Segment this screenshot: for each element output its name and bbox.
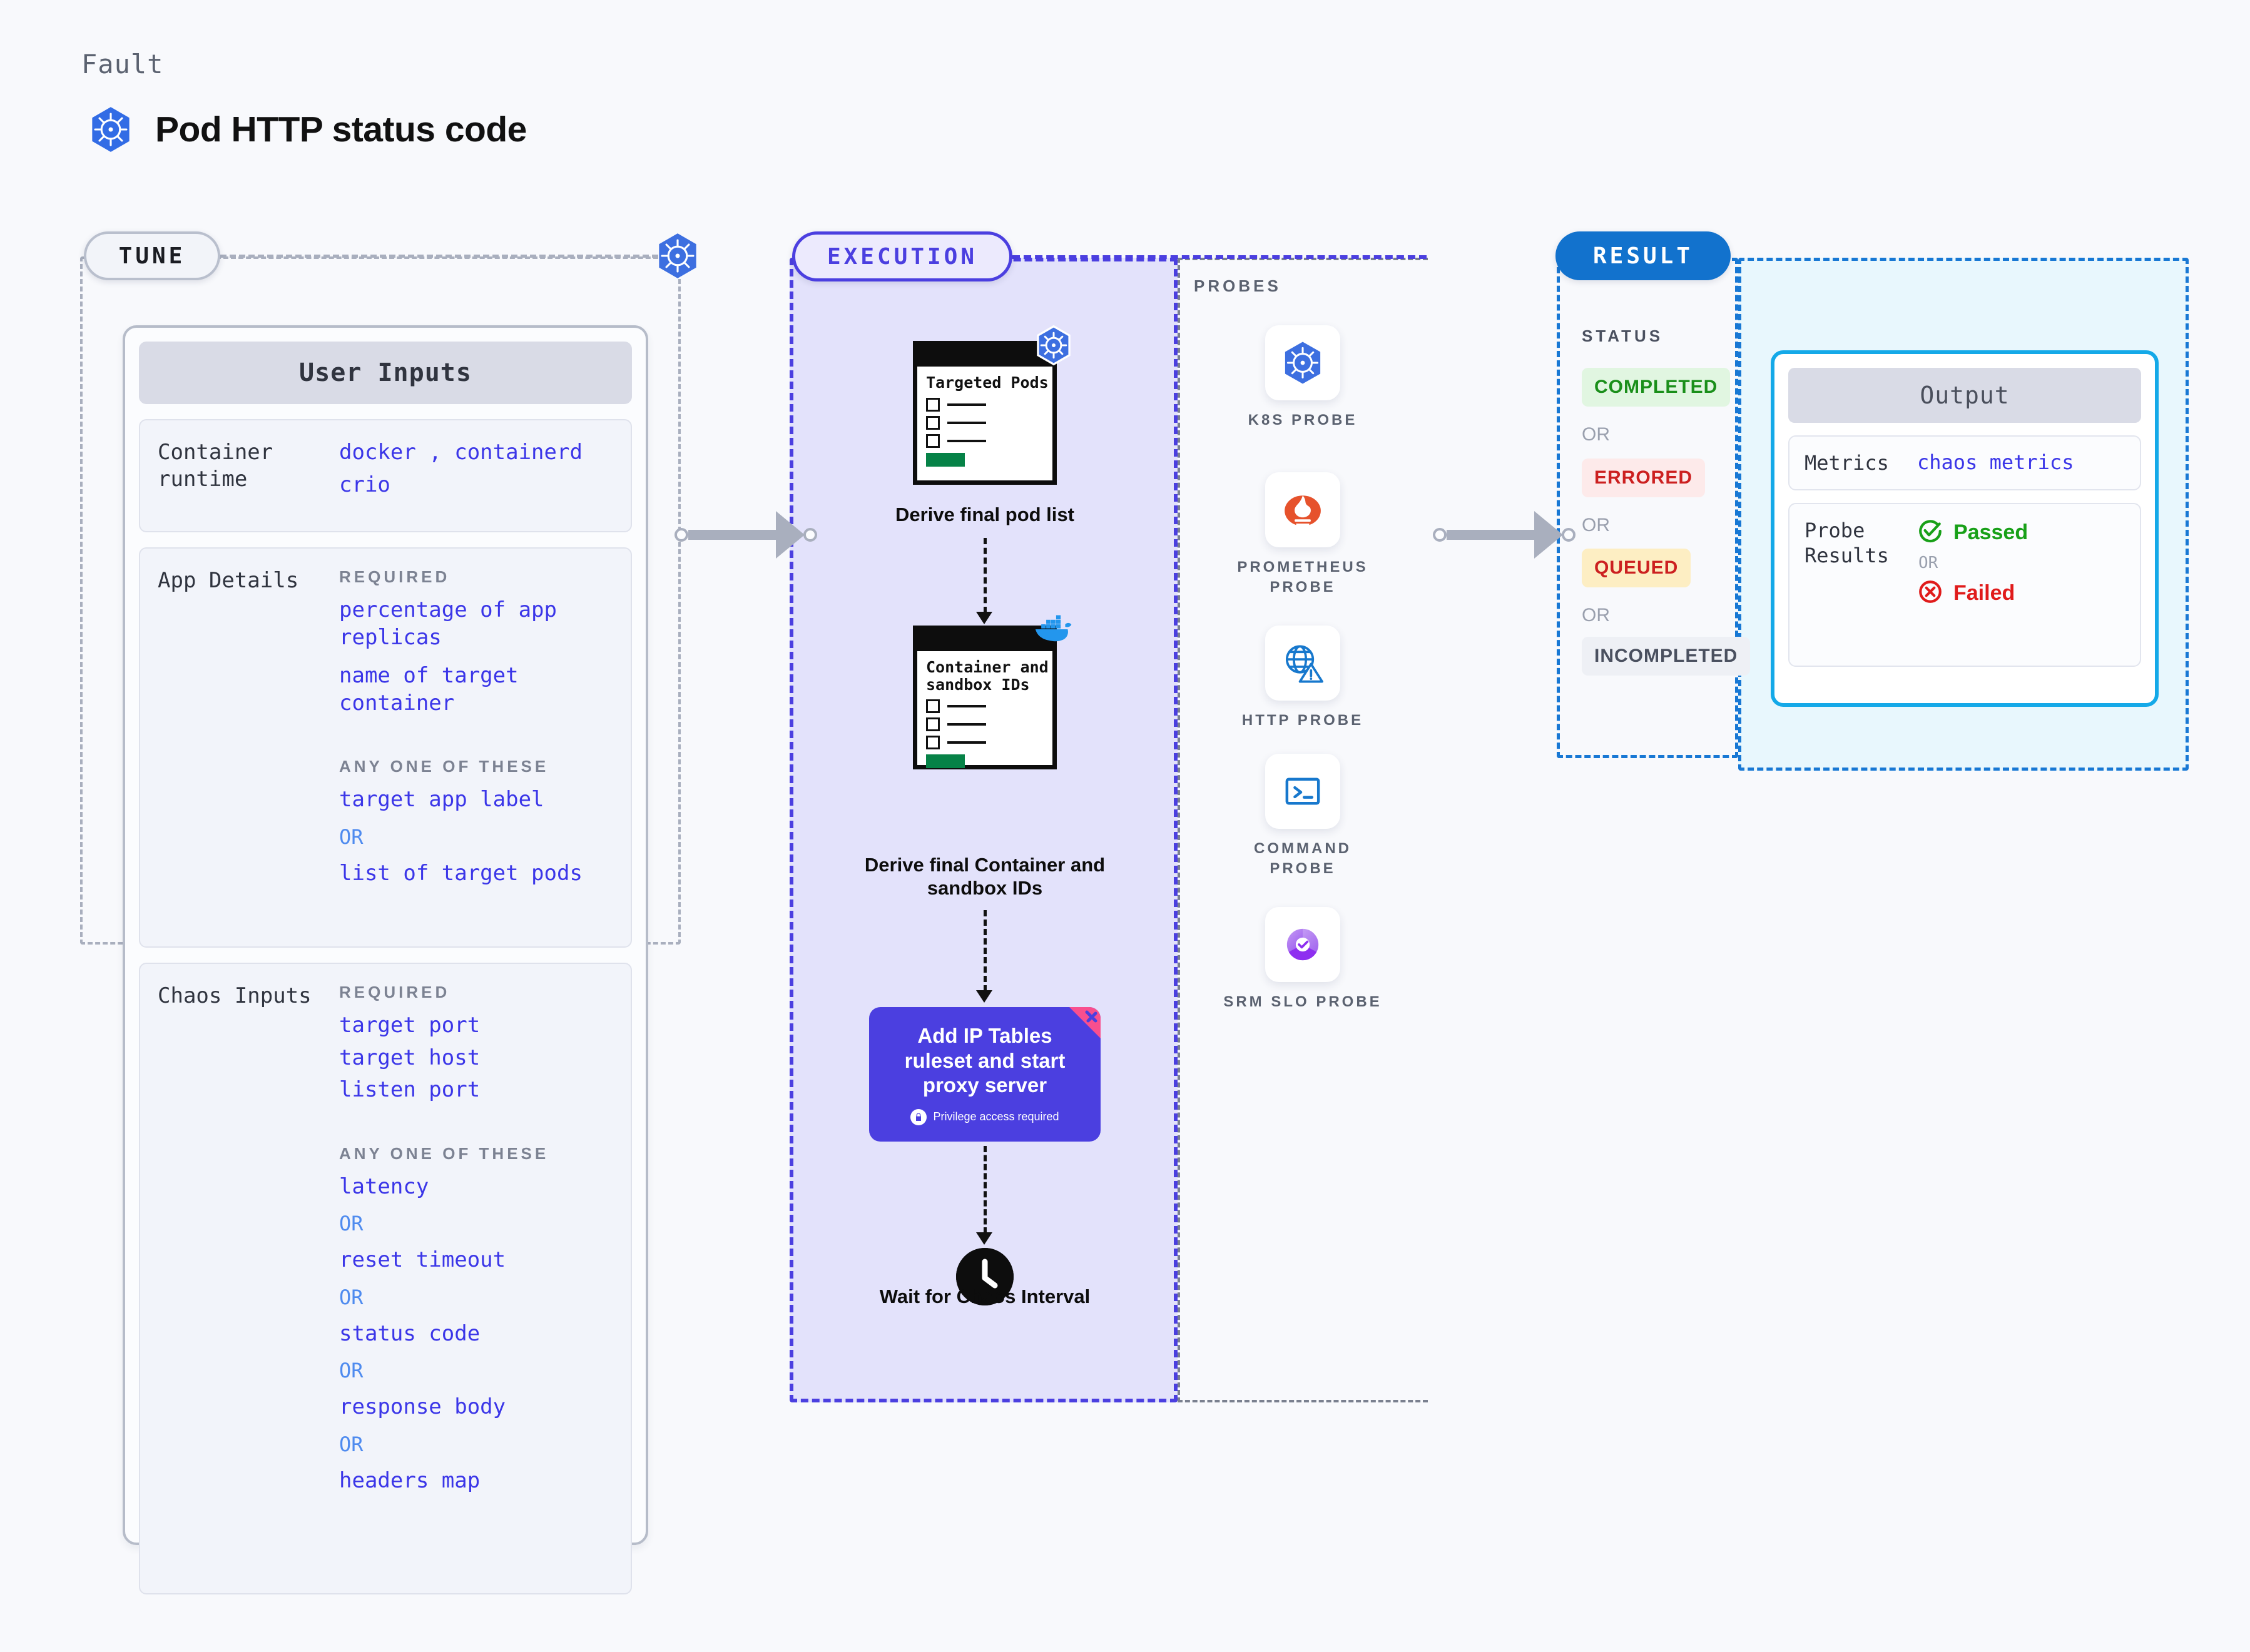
status-badge-queued: QUEUED [1582, 549, 1691, 587]
privilege-text: Privilege access required [933, 1110, 1059, 1123]
x-circle-icon [1917, 579, 1943, 608]
or-label: OR [339, 1432, 613, 1456]
connector-dot [1562, 528, 1576, 542]
value: target app label [339, 786, 613, 814]
checkbox-icon [926, 416, 940, 430]
result-pill[interactable]: RESULT [1555, 231, 1731, 280]
value: response body [339, 1394, 613, 1421]
tune-pill[interactable]: TUNE [84, 231, 220, 280]
group-container-runtime: Container runtime docker , containerd cr… [139, 419, 632, 532]
kubernetes-icon [86, 105, 135, 154]
document-rows [917, 697, 1052, 749]
value: listen port [339, 1077, 613, 1104]
flow-arrowhead [976, 612, 992, 624]
flow-link [984, 910, 987, 991]
metrics-key: Metrics [1805, 450, 1917, 475]
document-topbar [917, 345, 1052, 367]
flow-link [984, 1146, 987, 1234]
connector-dot [674, 528, 688, 542]
privilege-note: Privilege access required [910, 1109, 1059, 1125]
probe-label: K8S PROBE [1221, 410, 1384, 430]
checkbox-icon [926, 434, 940, 448]
check-circle-icon [1917, 518, 1943, 547]
action-card-add-ip-tables[interactable]: Add IP Tables ruleset and start proxy se… [869, 1007, 1101, 1142]
or-label: OR [1582, 605, 1610, 626]
kubernetes-icon [653, 231, 702, 280]
connector-arrowhead [776, 511, 805, 559]
group-title: Container runtime [158, 439, 339, 510]
probe-label: PROMETHEUS PROBE [1221, 557, 1384, 598]
value: headers map [339, 1467, 613, 1495]
probe-k8s[interactable]: K8S PROBE [1221, 325, 1384, 430]
text-line [947, 723, 986, 726]
value: crio [339, 472, 613, 499]
probe-results-key: Probe Results [1805, 518, 1917, 652]
status-bar [926, 453, 965, 467]
probe-result-passed: Passed [1917, 518, 2028, 547]
kubernetes-icon [1033, 325, 1074, 366]
text-line [947, 403, 986, 406]
document-rows [917, 395, 1052, 448]
tune-dashed-connector [220, 255, 658, 258]
group-title: Chaos Inputs [158, 983, 339, 1572]
flow-link [984, 538, 987, 613]
checkbox-icon [926, 699, 940, 713]
globe-warning-icon [1265, 626, 1340, 701]
page-title: Pod HTTP status code [155, 109, 527, 150]
connector-dot [803, 528, 817, 542]
connector-tune-to-execution [674, 511, 817, 559]
checkbox-icon [926, 717, 940, 731]
value: latency [339, 1173, 613, 1201]
or-label: OR [339, 825, 613, 849]
docker-icon [1031, 612, 1072, 653]
connector-arrowhead [1534, 511, 1563, 559]
status-badge-completed: COMPLETED [1582, 368, 1730, 407]
value: name of target container [339, 662, 613, 717]
srm-slo-icon [1265, 907, 1340, 982]
value: reset timeout [339, 1247, 613, 1274]
connector-line [1447, 530, 1535, 540]
probe-result-failed: Failed [1917, 579, 2028, 608]
probe-prometheus[interactable]: PROMETHEUS PROBE [1221, 472, 1384, 598]
prometheus-icon [1265, 472, 1340, 547]
anyone-label: ANY ONE OF THESE [339, 757, 613, 776]
probe-http[interactable]: HTTP PROBE [1221, 626, 1384, 731]
value: target port [339, 1012, 613, 1040]
connector-dot [1433, 528, 1447, 542]
metrics-row: Metrics chaos metrics [1788, 435, 2141, 490]
probes-section-label: PROBES [1194, 276, 1281, 296]
probe-results-row: Probe Results Passed OR [1788, 503, 2141, 667]
probe-label: COMMAND PROBE [1221, 839, 1384, 879]
user-inputs-title: User Inputs [139, 342, 632, 404]
fault-label: Fault [81, 49, 163, 79]
execution-pill[interactable]: EXECUTION [792, 231, 1012, 281]
metrics-value: chaos metrics [1917, 450, 2074, 475]
output-card: Output Metrics chaos metrics Probe Resul… [1771, 350, 2159, 707]
or-label: OR [339, 1359, 613, 1382]
group-chaos-inputs: Chaos Inputs REQUIRED target port target… [139, 963, 632, 1594]
or-label: OR [1582, 515, 1610, 536]
value: percentage of app replicas [339, 597, 613, 651]
page-title-row: Pod HTTP status code [86, 105, 527, 154]
status-label: STATUS [1582, 327, 1663, 346]
connector-line [688, 530, 777, 540]
text-line [947, 440, 986, 442]
node-caption: Derive final pod list [847, 504, 1122, 527]
terminal-icon [1265, 754, 1340, 829]
anyone-label: ANY ONE OF THESE [339, 1144, 613, 1163]
document-title: Container and sandbox IDs [917, 651, 1052, 697]
probe-command[interactable]: COMMAND PROBE [1221, 754, 1384, 879]
required-label: REQUIRED [339, 567, 613, 587]
node-targeted-pods: Targeted Pods [913, 341, 1057, 485]
failed-label: Failed [1953, 581, 2015, 606]
group-app-details: App Details REQUIRED percentage of app r… [139, 547, 632, 948]
execution-dashed-connector [1012, 255, 1427, 259]
connector-execution-to-result [1433, 511, 1576, 559]
checkbox-icon [926, 736, 940, 749]
probe-srm-slo[interactable]: SRM SLO PROBE [1221, 907, 1384, 1012]
lock-icon [910, 1109, 927, 1125]
status-bar [926, 754, 965, 768]
flow-arrowhead [976, 990, 992, 1003]
node-caption: Derive final Container and sandbox IDs [847, 854, 1122, 899]
user-inputs-card: User Inputs Container runtime docker , c… [123, 325, 648, 1545]
or-label: OR [1582, 424, 1610, 445]
litmus-icon [1063, 1007, 1101, 1043]
kubernetes-icon [1265, 325, 1340, 400]
or-label: OR [339, 1212, 613, 1235]
node-container-sandbox-ids: Container and sandbox IDs [913, 626, 1057, 769]
or-label: OR [1918, 554, 2028, 572]
checkbox-icon [926, 398, 940, 412]
text-line [947, 741, 986, 744]
text-line [947, 422, 986, 424]
output-card-title: Output [1788, 368, 2141, 423]
value: status code [339, 1320, 613, 1348]
value: list of target pods [339, 860, 613, 888]
group-title: App Details [158, 567, 339, 925]
or-label: OR [339, 1285, 613, 1309]
flow-arrowhead [976, 1232, 992, 1245]
passed-label: Passed [1953, 520, 2028, 545]
required-label: REQUIRED [339, 983, 613, 1002]
probe-label: HTTP PROBE [1221, 711, 1384, 731]
probe-label: SRM SLO PROBE [1221, 992, 1384, 1012]
value: docker , containerd [339, 439, 613, 467]
value: target host [339, 1045, 613, 1072]
node-caption: Wait for Chaos Interval [847, 1285, 1122, 1309]
text-line [947, 705, 986, 707]
status-badge-errored: ERRORED [1582, 459, 1705, 497]
document-title: Targeted Pods [917, 367, 1052, 395]
status-badge-incompleted: INCOMPLETED [1582, 637, 1750, 676]
